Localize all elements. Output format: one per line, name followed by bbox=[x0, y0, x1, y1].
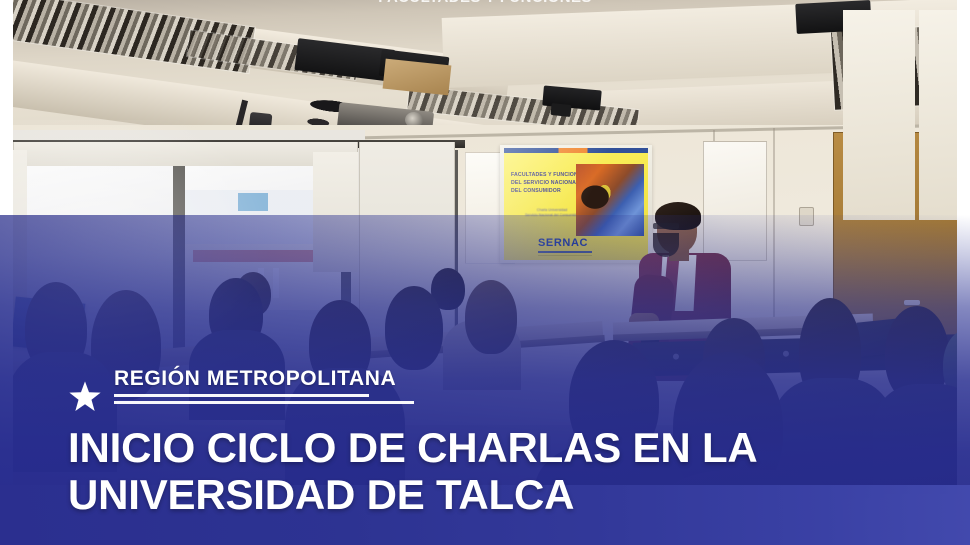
wall-seam bbox=[773, 128, 775, 328]
door-leaf bbox=[843, 10, 915, 220]
slide-title-line1: FACULTADES Y FUNCIONES bbox=[511, 172, 585, 178]
slide-top-stripe bbox=[504, 148, 648, 153]
slide-subtitle-line2: Servicio Nacional del Consumidor bbox=[525, 213, 579, 217]
sernac-logo-rule bbox=[538, 251, 592, 253]
ceiling-fixture bbox=[550, 103, 571, 117]
kicker-text-wrap: REGIÓN METROPOLITANA bbox=[114, 368, 396, 389]
window-blind bbox=[13, 142, 358, 166]
headline-line-2: UNIVERSIDAD DE TALCA bbox=[68, 471, 828, 518]
audience-head bbox=[465, 280, 517, 354]
desk-stud bbox=[673, 354, 679, 360]
kicker-rule-top bbox=[114, 394, 369, 397]
window-blind bbox=[13, 150, 27, 320]
slide-title-line3: DEL CONSUMIDOR bbox=[511, 188, 561, 194]
outside-column bbox=[273, 268, 279, 298]
door-handle bbox=[904, 300, 920, 305]
kicker-rule-bottom bbox=[114, 401, 414, 404]
slide-subtitle-line1: Charla Universidad bbox=[537, 208, 568, 212]
audience-head bbox=[385, 286, 443, 370]
glasses-icon bbox=[653, 223, 679, 229]
star-icon bbox=[68, 380, 102, 414]
wall-socket bbox=[799, 207, 814, 226]
window-mullion bbox=[173, 152, 185, 352]
sernac-logo-rule-accent bbox=[538, 255, 592, 257]
kicker-row: REGIÓN METROPOLITANA bbox=[68, 368, 396, 414]
headline-line-1: INICIO CICLO DE CHARLAS EN LA bbox=[68, 424, 828, 471]
audience-shoulders bbox=[873, 384, 957, 494]
outside-sign bbox=[238, 193, 268, 211]
region-label: REGIÓN METROPOLITANA bbox=[114, 368, 396, 389]
desk-stud bbox=[783, 351, 789, 357]
window-blind bbox=[313, 152, 358, 272]
page-title: INICIO CICLO DE CHARLAS EN LA UNIVERSIDA… bbox=[68, 424, 828, 518]
door-leaf bbox=[919, 10, 957, 220]
sernac-logo: SERNAC bbox=[538, 237, 588, 249]
news-card: FACULTADES Y FUNCIONES DEL SERVICIO NACI… bbox=[0, 0, 970, 545]
slide-title-line2: DEL SERVICIO NACIONAL bbox=[511, 180, 579, 186]
